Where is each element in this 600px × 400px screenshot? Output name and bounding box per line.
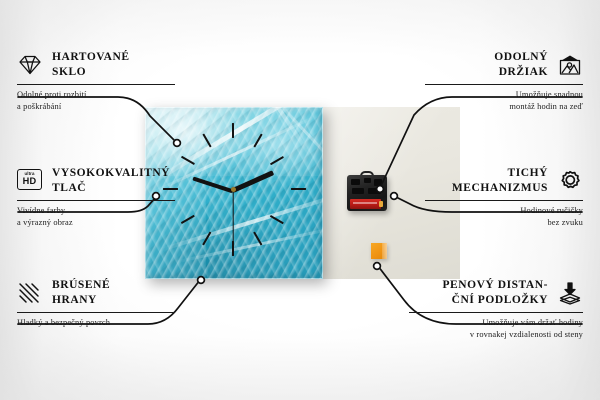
feature-tempered-glass: HARTOVANÉSKLO Odolné proti rozbitía pošk… [17, 50, 175, 112]
feature-divider [17, 312, 175, 313]
ultra-hd-icon: ultra HD [17, 169, 43, 193]
feature-title: TICHÝMECHANIZMUS [452, 166, 548, 195]
mechanism-battery [350, 199, 381, 209]
clock-mechanism [347, 171, 387, 211]
picture-frame-icon [557, 53, 583, 77]
feature-divider [17, 84, 175, 85]
feature-title: PENOVÝ DISTAN-ČNÍ PODLOŽKY [442, 278, 548, 307]
feature-description: Hodinové ručičkybez zvuku [425, 205, 583, 228]
feature-divider [425, 84, 583, 85]
feature-description: Hladký a bezpečný povrch [17, 317, 175, 328]
feature-polished-edges: BRÚSENÉHRANY Hladký a bezpečný povrch [17, 278, 175, 329]
feature-foam-spacers: PENOVÝ DISTAN-ČNÍ PODLOŽKY Umožňuje vám … [409, 278, 583, 340]
feature-title: VYSOKOKVALITNÝTLAČ [52, 166, 170, 195]
infographic-canvas: HARTOVANÉSKLO Odolné proti rozbitía pošk… [0, 0, 600, 400]
feature-description: Umožňuje vám držať hodinyv rovnakej vzdi… [409, 317, 583, 340]
feature-title: BRÚSENÉHRANY [52, 278, 110, 307]
feature-silent-mechanism: TICHÝMECHANIZMUS Hodinové ručičkybez zvu… [425, 166, 583, 228]
feature-divider [425, 200, 583, 201]
feature-title: ODOLNÝDRŽIAK [494, 50, 548, 79]
feature-title: HARTOVANÉSKLO [52, 50, 130, 79]
diamond-icon [17, 53, 43, 77]
foam-pad-icon [557, 281, 583, 305]
feature-divider [409, 312, 583, 313]
ultra-hd-icon-main-label: HD [23, 177, 37, 186]
feature-high-quality-print: ultra HD VYSOKOKVALITNÝTLAČ Vivídne farb… [17, 166, 175, 228]
feature-divider [17, 200, 175, 201]
feature-description: Odolné proti rozbitía poškrábání [17, 89, 175, 112]
feature-durable-hanger: ODOLNÝDRŽIAK Umožňuje snadnoumontáž hodi… [425, 50, 583, 112]
hatched-edge-icon [17, 281, 43, 305]
mechanism-body [347, 175, 387, 211]
feature-description: Vivídne farbya výrazný obraz [17, 205, 175, 228]
foam-spacer-pad [371, 243, 387, 259]
feature-description: Umožňuje snadnoumontáž hodin na zeď [425, 89, 583, 112]
product-photo [145, 107, 460, 279]
gear-icon [557, 169, 583, 193]
